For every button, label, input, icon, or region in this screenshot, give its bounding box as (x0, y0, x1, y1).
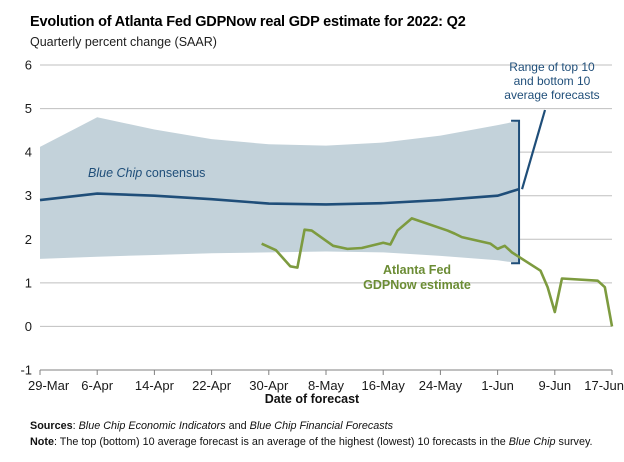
footer-divider (30, 411, 610, 412)
svg-text:4: 4 (25, 145, 32, 160)
chart-root: Evolution of Atlanta Fed GDPNow real GDP… (0, 0, 624, 462)
footer-note-label: Note (30, 436, 54, 448)
footer-note-a: : The top (bottom) 10 average forecast i… (54, 436, 509, 448)
range-band-series (40, 117, 519, 263)
annotation-bluechip-rest: consensus (142, 166, 205, 180)
svg-text:24-May: 24-May (419, 378, 463, 393)
svg-text:1-Jun: 1-Jun (481, 378, 514, 393)
annotation-range-line2: and bottom 10 (492, 74, 612, 88)
footer-sources-a: Blue Chip Economic Indicators (79, 420, 226, 432)
annotation-gdpnow-line2: GDPNow estimate (352, 278, 482, 293)
svg-text:3: 3 (25, 188, 32, 203)
svg-text:-1: -1 (20, 363, 32, 378)
svg-text:16-May: 16-May (362, 378, 406, 393)
annotation-gdpnow-line1: Atlanta Fed (352, 263, 482, 278)
annotation-range-line3: average forecasts (492, 88, 612, 102)
svg-text:5: 5 (25, 101, 32, 116)
svg-text:9-Jun: 9-Jun (539, 378, 572, 393)
svg-text:30-Apr: 30-Apr (249, 378, 289, 393)
footer-note-b: survey. (556, 436, 593, 448)
footer-sources-label: Sources (30, 420, 73, 432)
svg-text:1: 1 (25, 275, 32, 290)
footer-note: Note: The top (bottom) 10 average foreca… (30, 434, 610, 450)
annotation-bluechip-consensus: Blue Chip consensus (88, 166, 205, 181)
svg-text:6: 6 (25, 58, 32, 73)
footer-note-italic: Blue Chip (509, 436, 556, 448)
svg-text:0: 0 (25, 319, 32, 334)
svg-text:6-Apr: 6-Apr (81, 378, 113, 393)
footer-sources-b: Blue Chip Financial Forecasts (250, 420, 393, 432)
svg-text:29-Mar: 29-Mar (28, 378, 70, 393)
annotation-bluechip-italic: Blue Chip (88, 166, 142, 180)
range-leader-line (522, 110, 545, 189)
footer-sources-mid: and (226, 420, 250, 432)
annotation-range: Range of top 10 and bottom 10 average fo… (492, 60, 612, 102)
svg-text:14-Apr: 14-Apr (135, 378, 175, 393)
annotation-range-line1: Range of top 10 (492, 60, 612, 74)
x-axis-tick-labels: 29-Mar6-Apr14-Apr22-Apr30-Apr8-May16-May… (28, 378, 624, 393)
footer-sources: Sources: Blue Chip Economic Indicators a… (30, 418, 610, 434)
footer-notes: Sources: Blue Chip Economic Indicators a… (30, 418, 610, 450)
annotation-gdpnow: Atlanta Fed GDPNow estimate (352, 263, 482, 293)
svg-text:2: 2 (25, 232, 32, 247)
svg-text:17-Jun: 17-Jun (584, 378, 624, 393)
svg-text:22-Apr: 22-Apr (192, 378, 232, 393)
svg-text:8-May: 8-May (308, 378, 345, 393)
y-axis-tick-labels: -10123456 (20, 58, 32, 378)
x-axis (40, 370, 612, 375)
x-axis-title: Date of forecast (0, 392, 624, 406)
